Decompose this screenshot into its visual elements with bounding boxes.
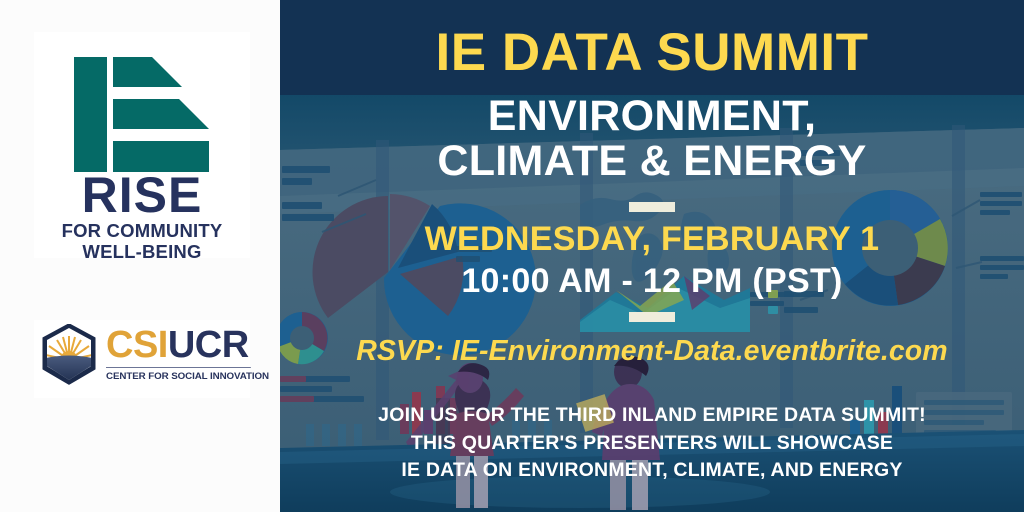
rise-logo: RISE FOR COMMUNITY WELL-BEING: [34, 32, 250, 258]
csi-ucr-logo: CSIUCR CENTER FOR SOCIAL INNOVATION: [34, 320, 250, 398]
logo-panel: RISE FOR COMMUNITY WELL-BEING: [0, 0, 280, 512]
event-time: 10:00 AM - 12 PM (PST): [280, 264, 1024, 298]
hexagon-sunrise-icon: [38, 324, 100, 386]
description-line-3: IE DATA ON ENVIRONMENT, CLIMATE, AND ENE…: [280, 457, 1024, 485]
rise-wordmark: RISE FOR COMMUNITY WELL-BEING: [34, 172, 250, 262]
event-date: WEDNESDAY, FEBRUARY 1: [280, 222, 1024, 256]
event-description: JOIN US FOR THE THIRD INLAND EMPIRE DATA…: [280, 402, 1024, 485]
rise-word: RISE: [34, 172, 250, 218]
divider-bar-bottom: [629, 312, 675, 322]
rise-stepped-e-mark: [74, 57, 214, 172]
csi-letters: CSI: [106, 324, 168, 366]
event-flyer: IE DATA SUMMIT ENVIRONMENT, CLIMATE & EN…: [0, 0, 1024, 512]
rsvp-link[interactable]: RSVP: IE-Environment-Data.eventbrite.com: [280, 337, 1024, 366]
divider-bar-top: [629, 202, 675, 212]
csi-letters-row: CSIUCR: [106, 326, 248, 364]
csi-tagline: CENTER FOR SOCIAL INNOVATION: [106, 367, 251, 382]
ucr-letters: UCR: [168, 324, 249, 366]
rise-tagline-line-1: FOR COMMUNITY: [34, 221, 250, 242]
event-content: IE DATA SUMMIT ENVIRONMENT, CLIMATE & EN…: [280, 0, 1024, 512]
rise-tagline-line-2: WELL-BEING: [34, 242, 250, 263]
subtitle-line-1: ENVIRONMENT,: [280, 94, 1024, 139]
subtitle-line-2: CLIMATE & ENERGY: [280, 139, 1024, 184]
description-line-2: THIS QUARTER'S PRESENTERS WILL SHOWCASE: [280, 430, 1024, 458]
event-subtitle: ENVIRONMENT, CLIMATE & ENERGY: [280, 94, 1024, 183]
csi-ucr-wordmark: CSIUCR CENTER FOR SOCIAL INNOVATION: [106, 326, 248, 382]
page-title: IE DATA SUMMIT: [280, 26, 1024, 79]
description-line-1: JOIN US FOR THE THIRD INLAND EMPIRE DATA…: [280, 402, 1024, 430]
